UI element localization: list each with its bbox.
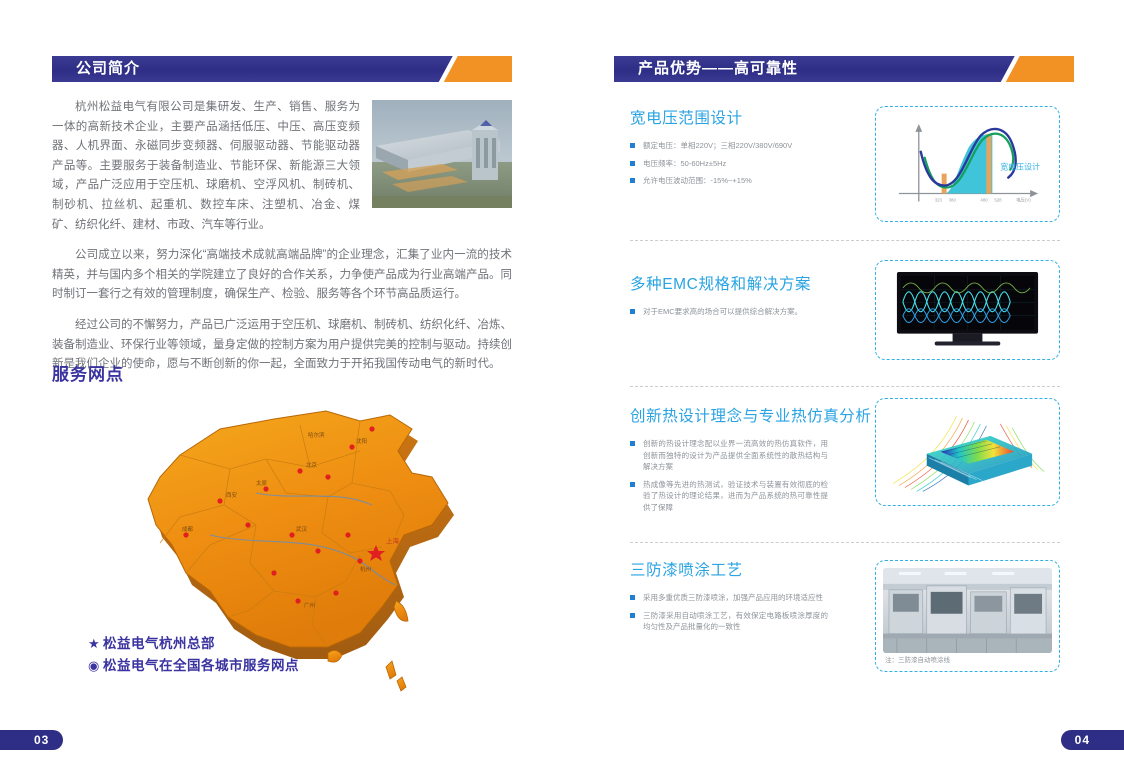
wide-voltage-chart-frame: 323 380 480 528 电压(V) 宽电压设计 — [875, 106, 1060, 222]
coating-line-frame: 注：三防漆自动喷涂线 — [875, 560, 1060, 672]
banner-bar: 公司简介 — [52, 56, 453, 82]
svg-text:电压(V): 电压(V) — [1016, 196, 1031, 203]
svg-text:北京: 北京 — [306, 461, 318, 469]
svg-text:380: 380 — [949, 197, 957, 202]
intro-paragraph-2: 公司成立以来，努力深化“高端技术成就高端品牌”的企业理念，汇集了业内一流的技术精… — [52, 246, 512, 305]
svg-text:哈尔滨: 哈尔滨 — [308, 431, 325, 439]
feature-emc: 多种EMC规格和解决方案 对于EMC要求高的场合可以提供综合解决方案。 — [630, 272, 1060, 324]
legend-item-service: ◉ 松益电气在全国各城市服务网点 — [88, 658, 299, 673]
page-number-left: 03 — [0, 730, 63, 750]
svg-text:480: 480 — [980, 197, 988, 202]
svg-text:528: 528 — [994, 197, 1002, 202]
folio-right: 04 — [1061, 729, 1124, 751]
svg-text:广州: 广州 — [304, 601, 315, 609]
section-divider-3 — [630, 542, 1060, 543]
chart-annotation: 宽电压设计 — [1000, 162, 1040, 172]
right-banner-title: 产品优势——高可靠性 — [638, 56, 798, 82]
bullet-item: 采用多重优质三防漆喷涂，加强产品应用的环境适应性 — [630, 592, 828, 604]
section-divider-1 — [630, 240, 1060, 241]
dot-icon: ◉ — [88, 658, 103, 673]
factory-photo-image — [372, 100, 512, 208]
thermal-simulation-frame — [875, 398, 1060, 506]
svg-text:武汉: 武汉 — [296, 525, 308, 533]
feature-bullets-1: 额定电压：单相220V；三相220V/380V/690V 电压频率：50-60H… — [630, 140, 828, 187]
bullet-item: 电压频率：50-60Hz±5Hz — [630, 158, 828, 170]
left-section-banner: 公司简介 — [52, 56, 512, 82]
svg-text:上海: 上海 — [386, 536, 400, 545]
legend-label-service: 松益电气在全国各城市服务网点 — [103, 658, 299, 673]
banner-accent-right — [1006, 56, 1074, 82]
bullet-item: 热成像等先进的热测试，验证技术与装置有效彻底的检验了热设计的理论结果，进而为产品… — [630, 479, 828, 514]
folio-left: 03 — [0, 729, 63, 751]
map-south-islands-2 — [397, 677, 406, 691]
feature-thermal: 创新热设计理念与专业热仿真分析 创新的热设计理念配以业界一流高效的热仿真软件，用… — [630, 404, 1060, 519]
svg-text:杭州: 杭州 — [360, 565, 371, 573]
company-intro: 杭州松益电气有限公司是集研发、生产、销售、服务为一体的高新技术企业，主要产品涵括… — [52, 98, 512, 386]
feature-bullets-3: 创新的热设计理念配以业界一流高效的热仿真软件，用创新而独特的设计为产品提供全面系… — [630, 438, 828, 513]
svg-text:太原: 太原 — [256, 479, 268, 487]
coating-caption: 注：三防漆自动喷涂线 — [883, 656, 1052, 665]
coating-production-line — [883, 568, 1052, 653]
emc-waveform-monitor — [883, 268, 1052, 355]
bullet-item: 额定电压：单相220V；三相220V/380V/690V — [630, 140, 828, 152]
section-divider-2 — [630, 386, 1060, 387]
service-network-heading: 服务网点 — [52, 360, 124, 385]
star-icon: ★ — [88, 636, 103, 651]
map-legend: ★ 松益电气杭州总部 ◉ 松益电气在全国各城市服务网点 — [88, 636, 299, 680]
legend-label-hq: 松益电气杭州总部 — [103, 636, 215, 651]
bullet-item: 创新的热设计理念配以业界一流高效的热仿真软件，用创新而独特的设计为产品提供全面系… — [630, 438, 828, 473]
svg-text:323: 323 — [935, 197, 943, 202]
banner-accent — [444, 56, 512, 82]
feature-coating: 三防漆喷涂工艺 采用多重优质三防漆喷涂，加强产品应用的环境适应性 三防漆采用自动… — [630, 558, 1060, 639]
bullet-item: 三防漆采用自动喷涂工艺，有效保定电路板喷涂厚度的均匀性及产品批量化的一致性 — [630, 610, 828, 633]
factory-photo — [372, 100, 512, 208]
map-hainan — [328, 650, 342, 662]
feature-bullets-4: 采用多重优质三防漆喷涂，加强产品应用的环境适应性 三防漆采用自动喷涂工艺，有效保… — [630, 592, 828, 633]
map-south-islands-1 — [386, 661, 396, 679]
wide-voltage-chart: 323 380 480 528 电压(V) 宽电压设计 — [883, 114, 1052, 215]
right-section-banner: 产品优势——高可靠性 — [614, 56, 1074, 82]
banner-bar-right: 产品优势——高可靠性 — [614, 56, 1015, 82]
legend-item-hq: ★ 松益电气杭州总部 — [88, 636, 299, 651]
left-banner-title: 公司简介 — [76, 56, 140, 82]
svg-text:沈阳: 沈阳 — [356, 437, 367, 445]
map-taiwan — [394, 601, 408, 621]
left-page: 公司简介 — [0, 0, 562, 765]
feature-wide-voltage: 宽电压范围设计 额定电压：单相220V；三相220V/380V/690V 电压频… — [630, 106, 1060, 193]
page-number-right: 04 — [1061, 730, 1124, 750]
bullet-item: 对于EMC要求高的场合可以提供综合解决方案。 — [630, 306, 828, 318]
chart-x-ticks: 323 380 480 528 电压(V) — [935, 196, 1032, 203]
svg-text:西安: 西安 — [226, 491, 238, 499]
bullet-item: 允许电压波动范围：-15%~+15% — [630, 175, 828, 187]
svg-text:成都: 成都 — [182, 525, 194, 533]
thermal-simulation — [883, 406, 1052, 499]
feature-bullets-2: 对于EMC要求高的场合可以提供综合解决方案。 — [630, 306, 828, 318]
brochure-spread: 公司简介 — [0, 0, 1124, 765]
emc-monitor-frame — [875, 260, 1060, 360]
